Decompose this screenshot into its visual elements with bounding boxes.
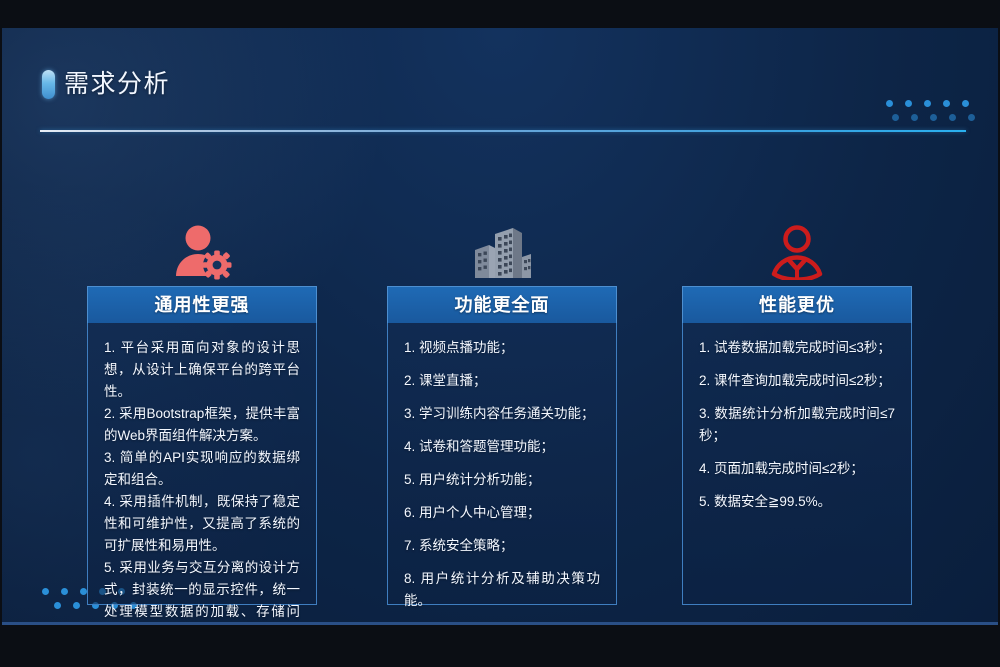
card-line: 4. 试卷和答题管理功能； bbox=[404, 436, 600, 458]
person-outline-icon bbox=[682, 218, 912, 280]
dot-grid-top-right bbox=[886, 100, 975, 121]
card-line: 3. 学习训练内容任务通关功能； bbox=[404, 403, 600, 425]
card-line: 4. 采用插件机制，既保持了稳定性和可维护性，又提高了系统的可扩展性和易用性。 bbox=[104, 491, 300, 557]
card-line: 1. 试卷数据加载完成时间≤3秒； bbox=[699, 337, 895, 359]
city-buildings-icon bbox=[387, 218, 617, 280]
card-line: 3. 数据统计分析加载完成时间≤7秒； bbox=[699, 403, 895, 447]
decor-dot bbox=[962, 100, 969, 107]
card-line: 3. 简单的API实现响应的数据绑定和组合。 bbox=[104, 447, 300, 491]
decor-dot bbox=[905, 100, 912, 107]
card-line: 2. 采用Bootstrap框架，提供丰富的Web界面组件解决方案。 bbox=[104, 403, 300, 447]
page-title: 需求分析 bbox=[64, 68, 170, 100]
card-body: 1. 视频点播功能； 2. 课堂直播； 3. 学习训练内容任务通关功能； 4. … bbox=[387, 323, 617, 605]
decor-dot bbox=[930, 114, 937, 121]
title-bullet-icon bbox=[42, 70, 55, 99]
feature-card-performance: 性能更优 1. 试卷数据加载完成时间≤3秒； 2. 课件查询加载完成时间≤2秒；… bbox=[682, 218, 912, 605]
decor-dot bbox=[968, 114, 975, 121]
decor-dot bbox=[943, 100, 950, 107]
card-heading: 功能更全面 bbox=[387, 286, 617, 323]
card-line: 2. 课件查询加载完成时间≤2秒； bbox=[699, 370, 895, 392]
card-line: 5. 采用业务与交互分离的设计方式，封装统一的显示控件，统一处理模型数据的加载、… bbox=[104, 557, 300, 625]
card-body: 1. 试卷数据加载完成时间≤3秒； 2. 课件查询加载完成时间≤2秒； 3. 数… bbox=[682, 323, 912, 605]
decor-dot bbox=[886, 100, 893, 107]
feature-card-functionality: 功能更全面 1. 视频点播功能； 2. 课堂直播； 3. 学习训练内容任务通关功… bbox=[387, 218, 617, 605]
title-divider bbox=[40, 130, 966, 132]
decor-dot bbox=[911, 114, 918, 121]
card-body: 1. 平台采用面向对象的设计思想，从设计上确保平台的跨平台性。 2. 采用Boo… bbox=[87, 323, 317, 605]
card-line: 5. 用户统计分析功能； bbox=[404, 469, 600, 491]
card-line: 1. 平台采用面向对象的设计思想，从设计上确保平台的跨平台性。 bbox=[104, 337, 300, 403]
card-line: 7. 系统安全策略； bbox=[404, 535, 600, 557]
card-line: 1. 视频点播功能； bbox=[404, 337, 600, 359]
decor-dot bbox=[73, 602, 80, 609]
feature-card-universality: 通用性更强 1. 平台采用面向对象的设计思想，从设计上确保平台的跨平台性。 2.… bbox=[87, 218, 317, 605]
card-line: 2. 课堂直播； bbox=[404, 370, 600, 392]
card-line: 6. 用户个人中心管理； bbox=[404, 502, 600, 524]
user-gear-icon bbox=[87, 218, 317, 280]
decor-dot bbox=[892, 114, 899, 121]
slide-canvas: 需求分析 bbox=[2, 28, 998, 625]
decor-dot bbox=[61, 588, 68, 595]
slide-frame: 需求分析 bbox=[0, 0, 1000, 667]
decor-dot bbox=[924, 100, 931, 107]
decor-dot bbox=[54, 602, 61, 609]
card-line: 4. 页面加载完成时间≤2秒； bbox=[699, 458, 895, 480]
decor-dot bbox=[80, 588, 87, 595]
card-heading: 性能更优 bbox=[682, 286, 912, 323]
card-line: 8. 用户统计分析及辅助决策功能。 bbox=[404, 568, 600, 612]
decor-dot bbox=[949, 114, 956, 121]
card-line: 5. 数据安全≧99.5%。 bbox=[699, 491, 895, 513]
decor-dot bbox=[42, 588, 49, 595]
slide-header: 需求分析 bbox=[2, 28, 998, 108]
card-heading: 通用性更强 bbox=[87, 286, 317, 323]
